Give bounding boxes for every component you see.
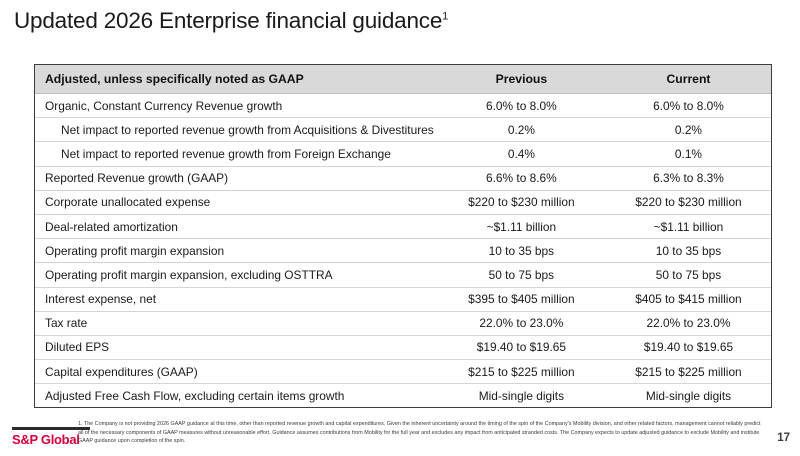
row-value-previous: $395 to $405 million xyxy=(437,287,604,311)
table-row: Tax rate22.0% to 23.0%22.0% to 23.0% xyxy=(35,311,771,335)
footnote-text: 1. The Company is not providing 2026 GAA… xyxy=(78,420,766,446)
row-value-previous: $215 to $225 million xyxy=(437,360,604,384)
row-label: Tax rate xyxy=(35,311,437,335)
column-header-previous: Previous xyxy=(437,65,604,94)
row-label: Net impact to reported revenue growth fr… xyxy=(35,142,437,166)
row-value-current: 0.1% xyxy=(604,142,771,166)
row-value-previous: 50 to 75 bps xyxy=(437,263,604,287)
row-value-current: $215 to $225 million xyxy=(604,360,771,384)
row-value-previous: 0.4% xyxy=(437,142,604,166)
table-header: Adjusted, unless specifically noted as G… xyxy=(35,65,771,94)
table-row: Deal-related amortization~$1.11 billion~… xyxy=(35,214,771,238)
row-value-current: 50 to 75 bps xyxy=(604,263,771,287)
guidance-table: Adjusted, unless specifically noted as G… xyxy=(35,65,771,407)
row-label: Capital expenditures (GAAP) xyxy=(35,360,437,384)
row-value-previous: 0.2% xyxy=(437,118,604,142)
table-row: Diluted EPS$19.40 to $19.65$19.40 to $19… xyxy=(35,335,771,359)
row-value-previous: 10 to 35 bps xyxy=(437,239,604,263)
row-label: Diluted EPS xyxy=(35,335,437,359)
table-row: Net impact to reported revenue growth fr… xyxy=(35,118,771,142)
row-value-current: $220 to $230 million xyxy=(604,190,771,214)
page-title-text: Updated 2026 Enterprise financial guidan… xyxy=(14,8,442,33)
slide-footer: S&P Global 1. The Company is not providi… xyxy=(0,400,800,456)
page-title-footnote-marker: 1 xyxy=(442,11,448,23)
row-value-previous: 6.0% to 8.0% xyxy=(437,94,604,118)
row-label: Deal-related amortization xyxy=(35,214,437,238)
row-value-current: $19.40 to $19.65 xyxy=(604,335,771,359)
page-number: 17 xyxy=(777,432,790,444)
row-label: Net impact to reported revenue growth fr… xyxy=(35,118,437,142)
row-value-previous: ~$1.11 billion xyxy=(437,214,604,238)
row-value-current: 6.0% to 8.0% xyxy=(604,94,771,118)
table-row: Corporate unallocated expense$220 to $23… xyxy=(35,190,771,214)
column-header-current: Current xyxy=(604,65,771,94)
row-label: Corporate unallocated expense xyxy=(35,190,437,214)
page-title: Updated 2026 Enterprise financial guidan… xyxy=(14,8,448,34)
row-value-current: 22.0% to 23.0% xyxy=(604,311,771,335)
table-row: Capital expenditures (GAAP)$215 to $225 … xyxy=(35,360,771,384)
slide-canvas: Updated 2026 Enterprise financial guidan… xyxy=(0,0,800,456)
row-label: Reported Revenue growth (GAAP) xyxy=(35,166,437,190)
guidance-table-container: Adjusted, unless specifically noted as G… xyxy=(34,64,772,408)
table-row: Organic, Constant Currency Revenue growt… xyxy=(35,94,771,118)
table-body: Organic, Constant Currency Revenue growt… xyxy=(35,94,771,408)
row-value-current: ~$1.11 billion xyxy=(604,214,771,238)
row-value-current: 0.2% xyxy=(604,118,771,142)
column-header-label: Adjusted, unless specifically noted as G… xyxy=(35,65,437,94)
table-row: Interest expense, net$395 to $405 millio… xyxy=(35,287,771,311)
row-value-current: 10 to 35 bps xyxy=(604,239,771,263)
row-label: Interest expense, net xyxy=(35,287,437,311)
table-row: Reported Revenue growth (GAAP)6.6% to 8.… xyxy=(35,166,771,190)
row-label: Organic, Constant Currency Revenue growt… xyxy=(35,94,437,118)
table-header-row: Adjusted, unless specifically noted as G… xyxy=(35,65,771,94)
table-row: Operating profit margin expansion10 to 3… xyxy=(35,239,771,263)
row-value-previous: 6.6% to 8.6% xyxy=(437,166,604,190)
row-value-previous: $19.40 to $19.65 xyxy=(437,335,604,359)
row-label: Operating profit margin expansion xyxy=(35,239,437,263)
table-row: Operating profit margin expansion, exclu… xyxy=(35,263,771,287)
row-value-previous: $220 to $230 million xyxy=(437,190,604,214)
table-row: Net impact to reported revenue growth fr… xyxy=(35,142,771,166)
row-value-current: $405 to $415 million xyxy=(604,287,771,311)
row-label: Operating profit margin expansion, exclu… xyxy=(35,263,437,287)
row-value-current: 6.3% to 8.3% xyxy=(604,166,771,190)
row-value-previous: 22.0% to 23.0% xyxy=(437,311,604,335)
